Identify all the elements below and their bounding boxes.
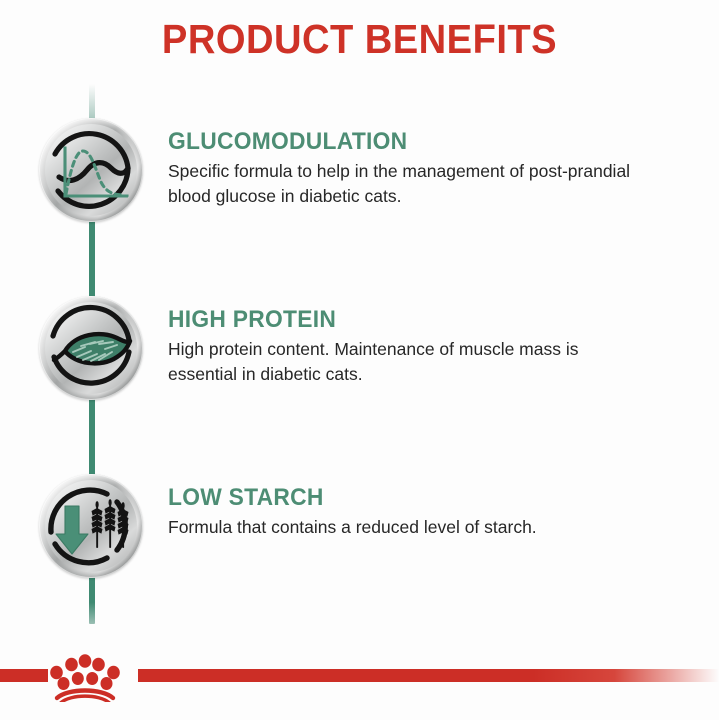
benefit-heading: GLUCOMODULATION (168, 128, 658, 156)
footer-rule-left (0, 669, 48, 682)
down-arrow-wheat-icon (45, 480, 137, 572)
footer-rule-right (138, 669, 719, 682)
benefit-heading: HIGH PROTEIN (168, 306, 658, 334)
benefit-description: Specific formula to help in the manageme… (168, 159, 646, 209)
benefit-text-block: HIGH PROTEIN High protein content. Maint… (168, 306, 684, 387)
benefit-icon-medallion (39, 474, 143, 578)
benefit-icon-medallion (39, 296, 143, 400)
benefit-heading: LOW STARCH (168, 484, 658, 512)
benefit-icon-medallion (39, 118, 143, 222)
page-title: PRODUCT BENEFITS (25, 16, 694, 63)
benefit-text-block: GLUCOMODULATION Specific formula to help… (168, 128, 684, 209)
benefit-description: High protein content. Maintenance of mus… (168, 337, 646, 387)
muscle-fiber-icon (45, 302, 137, 394)
glucose-curve-icon (45, 124, 137, 216)
product-benefits-panel: PRODUCT BENEFITS GLUCOMODULATION Specifi… (0, 0, 719, 720)
benefit-description: Formula that contains a reduced level of… (168, 515, 646, 540)
royal-canin-crown-logo (44, 650, 126, 702)
benefit-text-block: LOW STARCH Formula that contains a reduc… (168, 484, 684, 540)
